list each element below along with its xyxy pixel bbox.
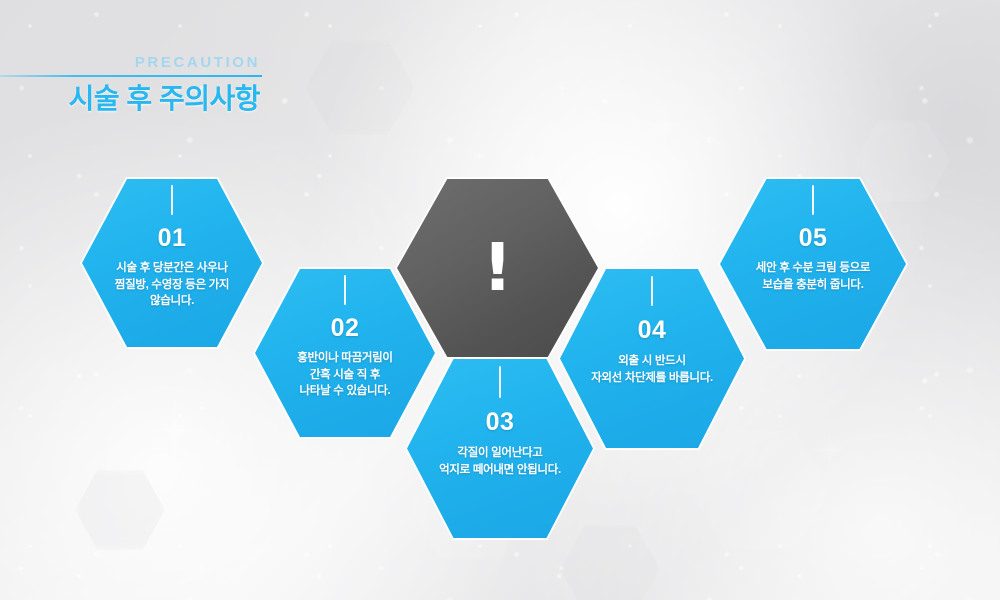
hexagon-description: 세안 후 수분 크림 등으로 보습을 충분히 줍니다. bbox=[727, 260, 899, 293]
hexagon-number: 05 bbox=[799, 226, 828, 251]
hexagon-description: 외출 시 반드시 자외선 차단제를 바릅니다. bbox=[566, 353, 738, 386]
bokeh-hexagon bbox=[305, 40, 415, 135]
hexagon-tick-line bbox=[812, 185, 814, 215]
hexagon-tick-line bbox=[651, 276, 653, 306]
exclamation-mark-icon: ! bbox=[482, 235, 512, 301]
hexagon-card-05[interactable]: 05 세안 후 수분 크림 등으로 보습을 충분히 줍니다. bbox=[718, 177, 908, 351]
page-title-block: PRECAUTION 시술 후 주의사항 bbox=[0, 55, 262, 116]
background-sparkle bbox=[630, 90, 700, 160]
hexagon-tick-line bbox=[344, 275, 346, 305]
hexagon-number: 01 bbox=[158, 226, 187, 251]
hexagon-description: 시술 후 당분간은 사우나 찜질방, 수영장 등은 가지 않습니다. bbox=[93, 260, 251, 310]
background-sparkle bbox=[800, 420, 860, 480]
title-kicker: PRECAUTION bbox=[0, 55, 262, 75]
hexagon-card-01[interactable]: 01 시술 후 당분간은 사우나 찜질방, 수영장 등은 가지 않습니다. bbox=[80, 177, 264, 349]
bokeh-hexagon bbox=[75, 470, 165, 550]
page-title: 시술 후 주의사항 bbox=[0, 77, 262, 116]
hexagon-number: 04 bbox=[638, 318, 667, 343]
slide-canvas: PRECAUTION 시술 후 주의사항 01 시술 후 당분간은 사우나 찜질… bbox=[0, 0, 1000, 600]
hexagon-number: 03 bbox=[486, 410, 515, 435]
hexagon-tick-line bbox=[499, 366, 501, 398]
hexagon-description: 각질이 일어난다고 억지로 떼어내면 안됩니다. bbox=[414, 445, 586, 478]
background-sparkle bbox=[130, 385, 220, 475]
hexagon-tick-line bbox=[171, 185, 173, 215]
hexagon-number: 02 bbox=[331, 316, 360, 341]
